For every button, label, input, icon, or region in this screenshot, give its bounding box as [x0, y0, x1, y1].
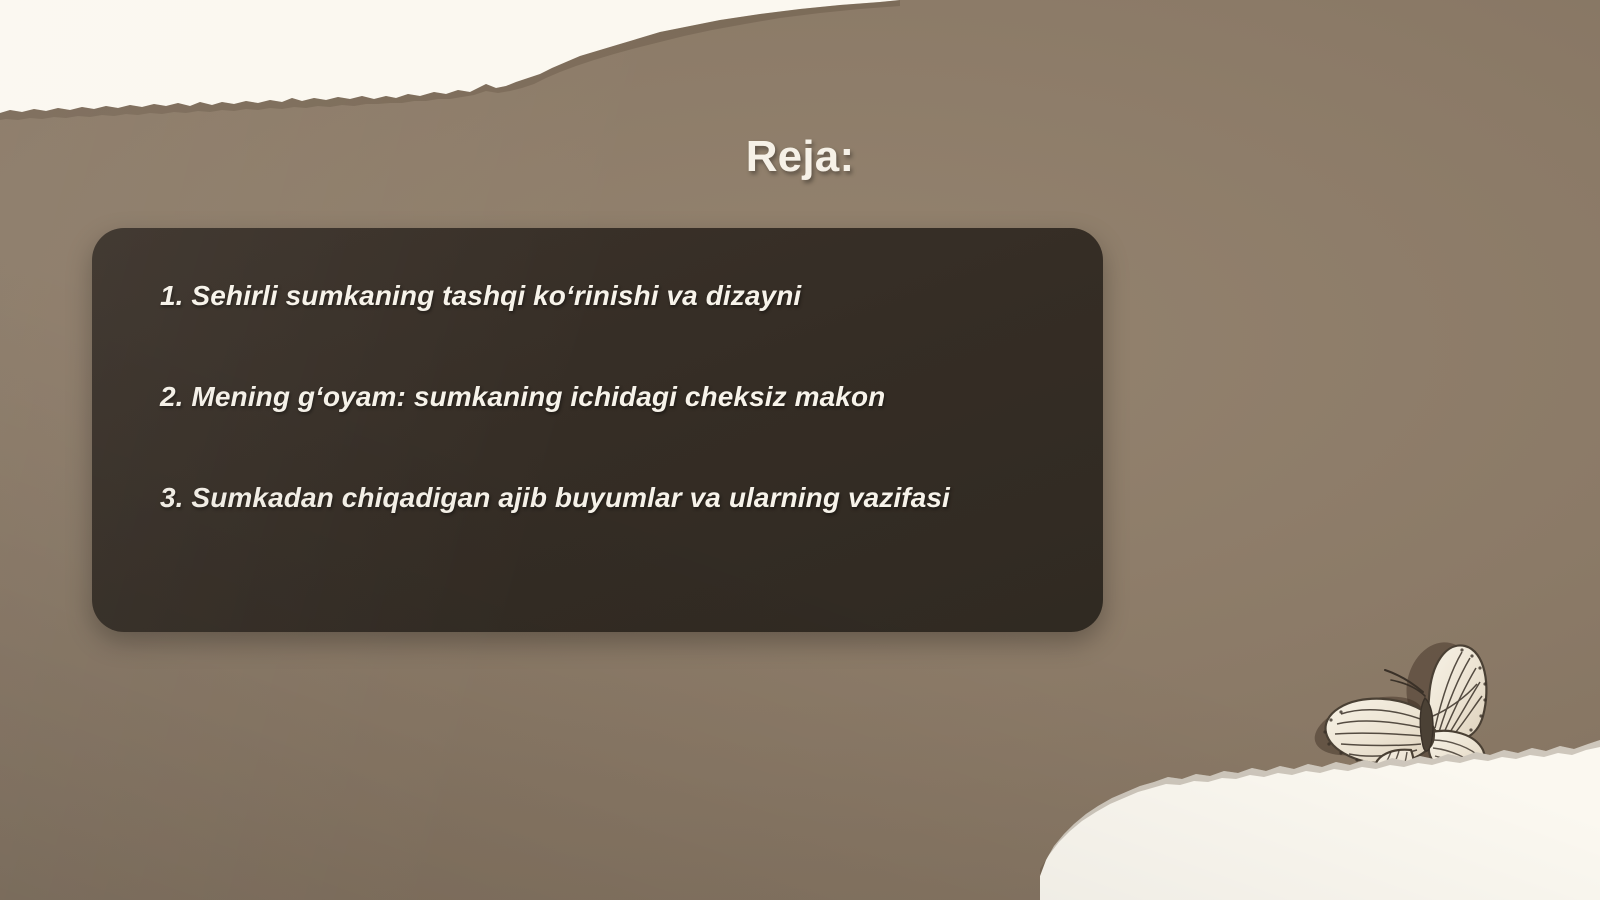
agenda-list: 1. Sehirli sumkaning tashqi ko‘rinishi v… [160, 280, 1057, 514]
butterfly-icon [1305, 640, 1505, 810]
list-item: 2. Mening g‘oyam: sumkaning ichidagi che… [160, 381, 1057, 413]
torn-paper-edge-bottom [1040, 740, 1600, 900]
page-title: Reja: [0, 132, 1600, 182]
list-item: 1. Sehirli sumkaning tashqi ko‘rinishi v… [160, 280, 1057, 312]
slide-canvas: Reja: 1. Sehirli sumkaning tashqi ko‘rin… [0, 0, 1600, 900]
list-item: 3. Sumkadan chiqadigan ajib buyumlar va … [160, 482, 1057, 514]
torn-paper-edge-top [0, 0, 900, 150]
content-card: 1. Sehirli sumkaning tashqi ko‘rinishi v… [92, 228, 1103, 632]
